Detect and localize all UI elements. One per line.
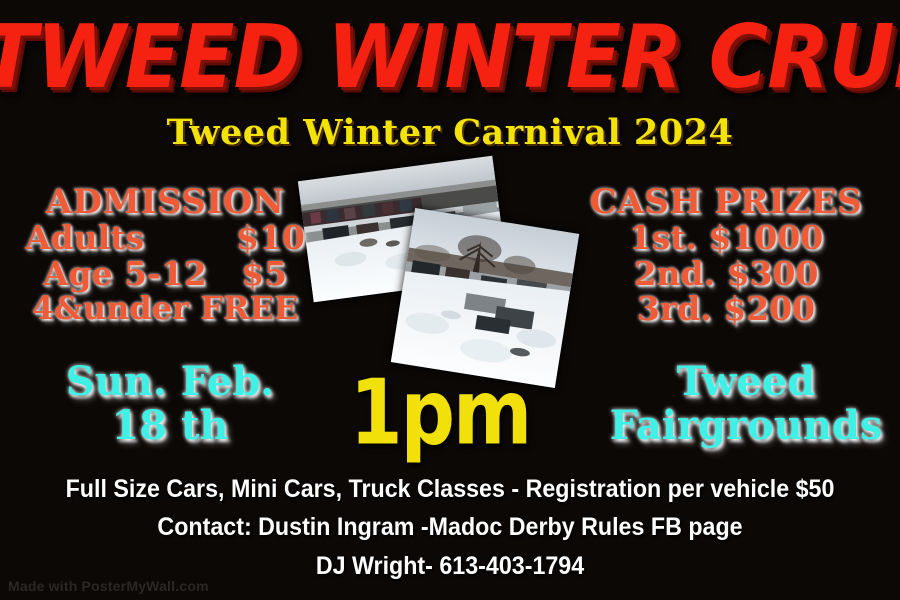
- footer-line-contact: Contact: Dustin Ingram -Madoc Derby Rule…: [32, 508, 869, 546]
- admission-row-4-and-under: 4&under FREE: [6, 291, 324, 325]
- event-date-block: Sun. Feb. 18 th: [20, 360, 320, 448]
- event-date-line-1: Sun. Feb.: [20, 360, 320, 404]
- event-time: 1pm: [330, 368, 550, 458]
- postermywall-watermark: Made with PosterMyWall.com: [8, 578, 209, 594]
- cash-prizes-block: CASH PRIZES 1st. $1000 2nd. $300 3rd. $2…: [566, 184, 886, 326]
- page-title: TWEED WINTER CRUNCH: [0, 14, 900, 101]
- prize-row-third: 3rd. $200: [566, 291, 886, 326]
- cash-prizes-heading: CASH PRIZES: [566, 184, 886, 220]
- footer-details: Full Size Cars, Mini Cars, Truck Classes…: [32, 470, 869, 585]
- event-date-line-2: 18 th: [20, 404, 320, 448]
- admission-block: ADMISSION Adults $10 Age 5-12 $5 4&under…: [6, 184, 324, 325]
- page-subtitle: Tweed Winter Carnival 2024: [0, 112, 900, 153]
- event-venue-line-1: Tweed: [596, 360, 896, 404]
- event-venue-block: Tweed Fairgrounds: [596, 360, 896, 448]
- admission-row-age-5-12: Age 5-12 $5: [6, 256, 324, 291]
- admission-row-adults: Adults $10: [6, 220, 324, 255]
- admission-heading: ADMISSION: [6, 184, 324, 220]
- prize-row-first: 1st. $1000: [566, 220, 886, 255]
- event-venue-line-2: Fairgrounds: [596, 404, 896, 448]
- footer-line-classes: Full Size Cars, Mini Cars, Truck Classes…: [32, 470, 869, 508]
- poster-canvas: TWEED WINTER CRUNCH Tweed Winter Carniva…: [0, 0, 900, 600]
- prize-row-second: 2nd. $300: [566, 256, 886, 291]
